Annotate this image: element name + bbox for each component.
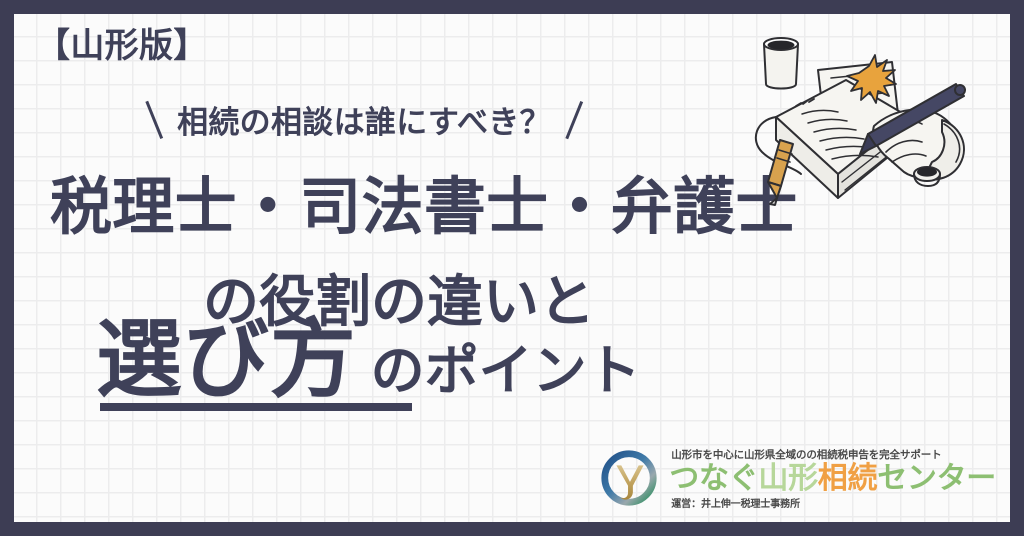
logo-name-part-2: 山形 xyxy=(758,462,817,495)
logo-name-part-3: 相続 xyxy=(818,462,877,495)
subtitle-text: 相続の相談は誰にすべき？ xyxy=(177,97,551,142)
logo-operator: 運営：井上伸一税理士事務所 xyxy=(669,495,996,510)
title-emphasis-word: 選び方 xyxy=(96,317,357,403)
logo-text-block: 山形市を中心に山形県全域のの相続税申告を完全サポート つなぐ山形相続センター 運… xyxy=(669,447,996,511)
slash-right-icon xyxy=(561,102,587,138)
eyecatch-banner: 【山形版】 相続の相談は誰にすべき？ 税理士・司法書士・弁護士 の役割の違いと … xyxy=(0,0,1024,536)
ring-icon xyxy=(914,167,940,186)
subtitle-row: 相続の相談は誰にすべき？ xyxy=(14,97,714,142)
slash-left-icon xyxy=(141,102,167,138)
hand-writing-in-notebook-illustration xyxy=(746,22,1008,232)
title-line-1: 税理士・司法書士・弁護士 xyxy=(50,156,798,246)
y-circle-logo-icon xyxy=(598,447,660,509)
title-line-3: 選び方 のポイント xyxy=(96,317,641,403)
site-logo-lockup[interactable]: 山形市を中心に山形県全域のの相続税申告を完全サポート つなぐ山形相続センター 運… xyxy=(598,447,996,511)
grid-paper-canvas: 【山形版】 相続の相談は誰にすべき？ 税理士・司法書士・弁護士 の役割の違いと … xyxy=(14,14,1010,522)
title-emphasis-text: 選び方 xyxy=(96,312,357,408)
title-line-3-tail: のポイント xyxy=(371,344,641,398)
gold-pencil xyxy=(768,140,793,205)
logo-name-part-4: センター xyxy=(877,462,996,495)
region-tag: 【山形版】 xyxy=(36,28,208,65)
logo-name: つなぐ山形相続センター xyxy=(669,463,996,495)
emphasis-underline xyxy=(100,403,412,411)
logo-name-part-1: つなぐ xyxy=(669,462,758,495)
coffee-cup-icon xyxy=(764,38,798,89)
logo-tagline: 山形市を中心に山形県全域のの相続税申告を完全サポート xyxy=(669,447,996,462)
